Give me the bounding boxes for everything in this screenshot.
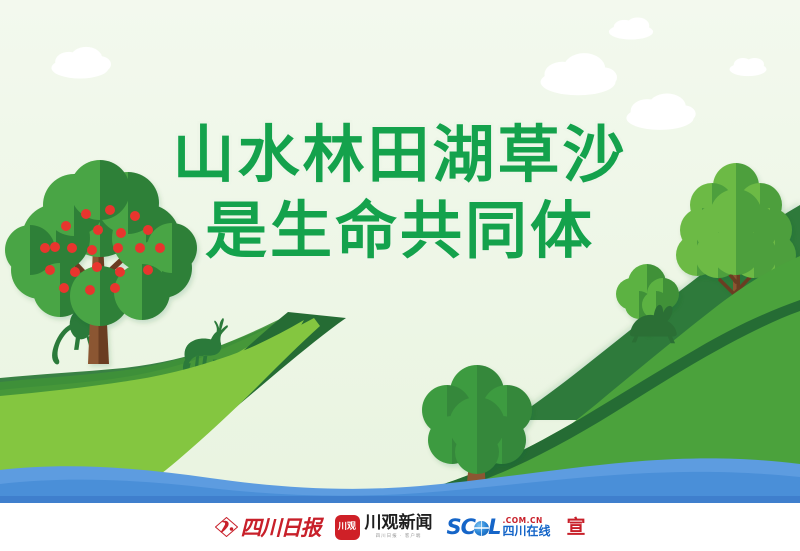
footer-logo-bar: 四川日报 川观 川观新闻 四川日报 · 客户端 SCL .COM.CN 四川在线…: [0, 503, 800, 551]
chuanguan-wordmark: 川观新闻: [365, 515, 433, 532]
chuanguan-text-stack: 川观新闻 四川日报 · 客户端: [365, 515, 433, 540]
poster-root: 山水林田湖草沙 是生命共同体 四川日报 川观 川观新闻 四川日报 · 客户端 S…: [0, 0, 800, 551]
scol-wordmark-part1: SC: [447, 515, 476, 539]
river-bottom-band: [0, 496, 800, 503]
scol-wordmark-part2: L: [488, 515, 500, 539]
chuanguan-subtitle: 四川日报 · 客户端: [365, 533, 433, 540]
logo-sichuan-daily[interactable]: 四川日报: [215, 513, 321, 541]
scol-wordmark: SCL: [447, 517, 501, 538]
chuanguan-badge-icon: 川观: [335, 515, 360, 540]
logo-chuanguan-news[interactable]: 川观 川观新闻 四川日报 · 客户端: [335, 513, 433, 541]
scol-chinese-name: 四川在线: [502, 525, 550, 538]
scol-text-stack: .COM.CN 四川在线: [502, 516, 550, 538]
sichuan-daily-wordmark: 四川日报: [241, 517, 321, 538]
illustration-scene: [0, 0, 800, 503]
publisher-mark: 宣: [566, 518, 585, 537]
globe-icon: [474, 521, 489, 536]
sichuan-daily-emblem-icon: [215, 517, 238, 537]
logo-scol[interactable]: SCL .COM.CN 四川在线: [447, 513, 551, 541]
